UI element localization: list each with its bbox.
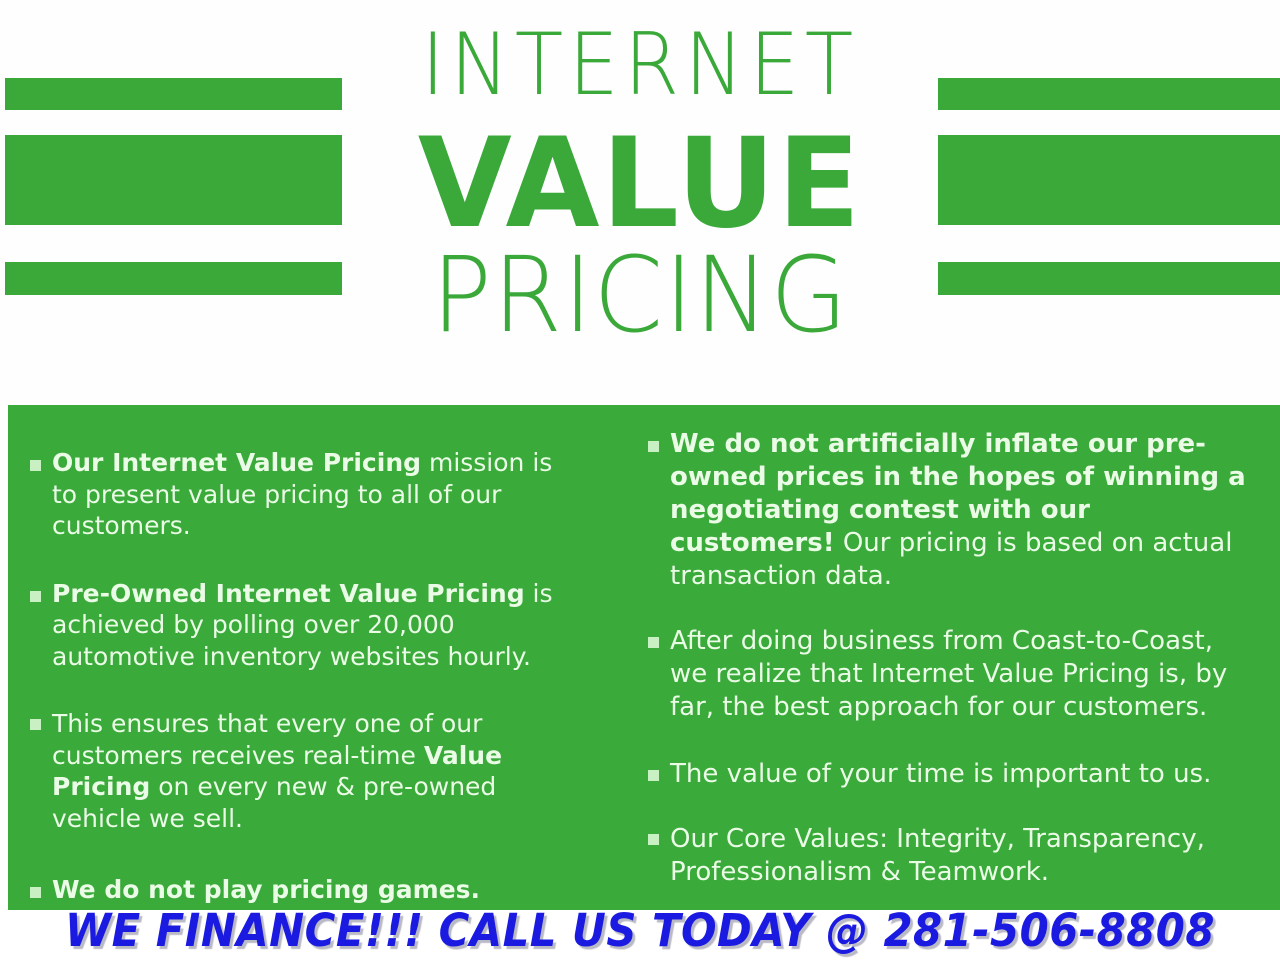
list-item-text: Our Core Values: Integrity, Transparency… (670, 823, 1248, 889)
list-item-text: After doing business from Coast-to-Coast… (670, 625, 1248, 724)
list-item: Pre-Owned Internet Value Pricing is achi… (30, 578, 570, 673)
list-item-text: We do not artificially inflate our pre-o… (670, 428, 1248, 593)
list-item: Our Internet Value Pricing mission is to… (30, 447, 570, 542)
finance-banner: WE FINANCE!!! CALL US TODAY @ 281-506-88… (0, 900, 1280, 960)
list-item-text: Pre-Owned Internet Value Pricing is achi… (52, 578, 570, 673)
list-item: The value of your time is important to u… (648, 758, 1248, 791)
logo-wordmark: INTERNET VALUE PRICING (342, 0, 938, 405)
list-item-lead: After doing business from Coast-to-Coast… (670, 626, 1227, 722)
logo-line-pricing: PRICING (354, 243, 926, 347)
decorative-bar-right-bottom (938, 262, 1280, 295)
list-item: Our Core Values: Integrity, Transparency… (648, 823, 1248, 889)
decorative-bar-right-middle (938, 135, 1280, 225)
bullet-square-icon (648, 834, 659, 845)
list-item-emphasis: Pre-Owned Internet Value Pricing (52, 579, 525, 608)
bullet-square-icon (30, 719, 41, 730)
list-item-text: Our Internet Value Pricing mission is to… (52, 447, 570, 542)
finance-call-to-action: WE FINANCE!!! CALL US TODAY @ 281-506-88… (45, 904, 1235, 957)
bullet-square-icon (648, 441, 659, 452)
list-item-lead: This ensures that every one of our custo… (52, 709, 482, 770)
value-pricing-panel: Our Internet Value Pricing mission is to… (8, 405, 1280, 910)
bullet-square-icon (30, 591, 41, 602)
bullet-square-icon (30, 887, 41, 898)
list-item-emphasis: Our Internet Value Pricing (52, 448, 421, 477)
decorative-bar-right-top (938, 78, 1280, 110)
list-item-lead: Our Core Values: Integrity, Transparency… (670, 824, 1205, 887)
logo-line-internet: INTERNET (366, 22, 914, 108)
bullet-column-right: We do not artificially inflate our pre-o… (648, 405, 1248, 889)
decorative-bar-left-top (5, 78, 342, 110)
bullet-column-left: Our Internet Value Pricing mission is to… (30, 405, 570, 906)
list-item: We do not artificially inflate our pre-o… (648, 428, 1248, 593)
bullet-square-icon (30, 460, 41, 471)
list-item: After doing business from Coast-to-Coast… (648, 625, 1248, 724)
decorative-bar-left-middle (5, 135, 342, 225)
decorative-bar-left-bottom (5, 262, 342, 295)
list-item-text: This ensures that every one of our custo… (52, 708, 570, 834)
bullet-square-icon (648, 637, 659, 648)
logo-header: INTERNET VALUE PRICING (0, 0, 1280, 405)
logo-line-value: VALUE (348, 122, 932, 246)
list-item: This ensures that every one of our custo… (30, 708, 570, 834)
list-item-text: The value of your time is important to u… (670, 758, 1248, 791)
list-item-lead: The value of your time is important to u… (670, 759, 1211, 789)
bullet-square-icon (648, 770, 659, 781)
